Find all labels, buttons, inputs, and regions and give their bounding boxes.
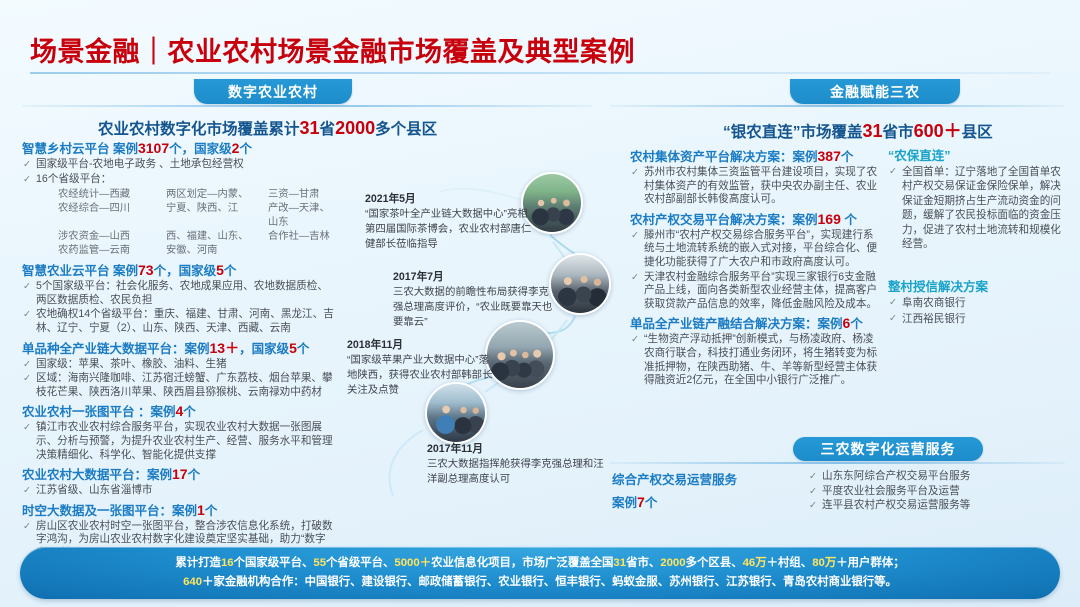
ops-item: 山东东阿综合产权交易平台服务 [808, 470, 1070, 484]
banner-l1-n7: 80万 [812, 557, 836, 569]
divider-left-section [22, 105, 592, 107]
block-title-num: 73 [138, 262, 154, 278]
banner-l1-h: ＋用户群体； [836, 557, 904, 569]
tick-list: 5个国家级平台：社会化服务、农地成果应用、农地数据质检、两区数据质检、农民负担农… [22, 280, 334, 335]
timeline-column: 2021年5月 “国家茶叶全产业链大数据中心”亮相第四届国际茶博会，农业农村部唐… [335, 130, 615, 550]
province-cell: 农经综合—四川 [58, 202, 162, 230]
ops-right-block: 山东东阿综合产权交易平台服务平度农业社会服务平台及运营连平县农村产权交易运营服务… [808, 470, 1070, 514]
tick-item: 农地确权14个省级平台：重庆、福建、甘肃、河南、黑龙江、吉林、辽宁、宁夏（2）、… [22, 308, 334, 335]
photo-premier-visit [549, 253, 611, 315]
right-block: 农村产权交易平台解决方案：案例169 个滕州市“农村产权交易综合服务平台”，实现… [630, 211, 880, 312]
banner-l1-g: ＋村组、 [767, 557, 813, 569]
far-right-block: “农保直连”全国首单：辽宁落地了全国首单农村产权交易保证金保险保单，解决保证金短… [888, 148, 1070, 251]
ops-case-num: 7 [637, 494, 645, 510]
banner-l1-c: 个省级平台、 [326, 557, 394, 569]
block-title-pre: 农业农村大数据平台：案例 [22, 468, 172, 482]
block-title-num: 5 [289, 340, 297, 356]
block-title-num: 5 [216, 262, 224, 278]
tab-finance-empowerment[interactable]: 金融赋能三农 [790, 79, 960, 104]
block-title-post: 个 [224, 264, 237, 278]
summary-banner: 累计打造16个国家级平台、55个省级平台、5000＋农业信息化项目，市场广泛覆盖… [20, 547, 1060, 599]
block-title: “农保直连” [888, 148, 1070, 164]
left-subheader-pre: 农业农村数字化市场覆盖累计 [98, 121, 300, 138]
tick-list: 镇江市农业农村综合服务平台，实现农业农村大数据一张图展示、分析与预警，为提升农业… [22, 421, 334, 462]
tick-item: 滕州市“农村产权交易综合服务平台”，实现建行系统与土地流转系统的嵌入式对接，平台… [630, 229, 880, 270]
tick-item: 苏州市农村集体三资监管平台建设项目，实现了农村集体资产的有效监管，获中央农办副主… [630, 166, 880, 207]
banner-l1-n3: 5000＋ [394, 557, 431, 569]
far-right-block: 整村授信解决方案阜南农商银行江西裕民银行 [888, 279, 1070, 326]
banner-l1-b: 个国家级平台、 [234, 557, 314, 569]
timeline-text-2: “国家级苹果产业大数据中心”落地陕西，获得农业农村部韩部长关注及点赞 [347, 353, 497, 398]
ops-case-post: 个 [645, 496, 658, 510]
block-title-pre: 时空大数据及一张图平台：案例 [22, 504, 197, 518]
block-title: 智慧农业云平台 案例73个，国家级5个 [22, 262, 334, 279]
timeline-date-3: 2017年11月 [427, 442, 612, 457]
banner-l1-a: 累计打造 [175, 557, 221, 569]
ops-left-block: 综合产权交易运营服务 案例7个 [612, 470, 787, 515]
banner-l2-n1: 640 [183, 576, 202, 588]
block-title-pre: 农村产权交易平台解决方案：案例 [630, 213, 818, 227]
timeline-date-2: 2018年11月 [347, 338, 497, 353]
block-title-num: 1 [197, 502, 205, 518]
ops-left-title: 综合产权交易运营服务 [612, 470, 787, 491]
timeline-item-2: 2018年11月 “国家级苹果产业大数据中心”落地陕西，获得农业农村部韩部长关注… [347, 338, 497, 398]
block-title: 整村授信解决方案 [888, 279, 1070, 295]
left-content-column: 智慧乡村云平台 案例3107个，国家级2个国家级平台-农地电子政务 、土地承包经… [22, 140, 334, 565]
tick-list: 江苏省级、山东省淄博市 [22, 484, 334, 498]
summary-banner-line1: 累计打造16个国家级平台、55个省级平台、5000＋农业信息化项目，市场广泛覆盖… [175, 554, 904, 573]
ops-item: 连平县农村产权交易运营服务等 [808, 499, 1070, 513]
ops-case-pre: 案例 [612, 496, 637, 510]
page-title: 场景金融｜农业农村场景金融市场覆盖及典型案例 [30, 30, 635, 69]
divider-right-section [610, 105, 1065, 107]
tab-digital-operations[interactable]: 三农数字化运营服务 [793, 437, 983, 461]
tick-item: “生物资产浮动抵押”创新模式，与杨凌政府、杨凌农商行联合，科技打通业务闭环，将生… [630, 333, 880, 387]
left-block: 农业农村一张图平台 ：案例4个镇江市农业农村综合服务平台，实现农业农村大数据一张… [22, 403, 334, 462]
block-title: 农业农村大数据平台：案例17个 [22, 466, 334, 483]
title-divider [30, 72, 1050, 74]
tick-item: 国家级：苹果、茶叶、橡胶、油料、生猪 [22, 358, 334, 372]
far-right-content-column: “农保直连”全国首单：辽宁落地了全国首单农村产权交易保证金保险保单，解决保证金短… [888, 148, 1070, 330]
tick-item: 江苏省级、山东省淄博市 [22, 484, 334, 498]
block-title: 智慧乡村云平台 案例3107个，国家级2个 [22, 140, 334, 157]
block-title-post: 个 [239, 142, 252, 156]
block-title-post: 个 [205, 504, 218, 518]
timeline-item-0: 2021年5月 “国家茶叶全产业链大数据中心”亮相第四届国际茶博会，农业农村部唐… [365, 192, 535, 252]
tick-item: 16个省级平台： [22, 173, 334, 187]
tick-list: 滕州市“农村产权交易综合服务平台”，实现建行系统与土地流转系统的嵌入式对接，平台… [630, 229, 880, 312]
block-title: 时空大数据及一张图平台：案例1个 [22, 502, 334, 519]
right-subheader-num2: 600＋ [914, 121, 962, 141]
right-subheader: “银农直连”市场覆盖31省市600＋县区 [723, 117, 993, 143]
timeline-date-1: 2017年7月 [393, 270, 558, 285]
block-title-post: 个 [841, 150, 854, 164]
banner-l1-n1: 16 [221, 557, 234, 569]
block-title-post: 个 [297, 342, 310, 356]
block-title-pre: 智慧乡村云平台 案例 [22, 142, 138, 156]
block-title: 农村产权交易平台解决方案：案例169 个 [630, 211, 880, 228]
block-title-pre: 农村集体资产平台解决方案：案例 [630, 150, 818, 164]
province-cell: 安徽、河南 [166, 244, 264, 258]
right-block: 农村集体资产平台解决方案：案例387个苏州市农村集体三资监管平台建设项目，实现了… [630, 148, 880, 207]
block-title-post: 个 [183, 405, 196, 419]
tick-item: 阜南农商银行 [888, 296, 1070, 310]
tick-list: 阜南农商银行江西裕民银行 [888, 296, 1070, 326]
banner-l2-a: ＋家金融机构合作：中国银行、建设银行、邮政储蓄银行、农业银行、恒丰银行、蚂蚁金服… [202, 576, 897, 588]
block-title-num: 3107 [138, 140, 169, 156]
tick-list: 苏州市农村集体三资监管平台建设项目，实现了农村集体资产的有效监管，获中央农办副主… [630, 166, 880, 207]
left-subheader-num1: 31 [300, 118, 320, 138]
banner-l1-d: 农业信息化项目，市场广泛覆盖全国 [431, 557, 613, 569]
province-grid: 农经统计—西藏两区划定—内蒙、三资—甘肃农经综合—四川宁夏、陕西、江产改—天津、… [58, 188, 334, 258]
province-cell: 三资—甘肃 [268, 188, 334, 202]
tick-item: 全国首单：辽宁落地了全国首单农村产权交易保证金保险保单，解决保证金短期挤占生产流… [888, 165, 1070, 251]
block-title-pre: 单品全产业链产融结合解决方案：案例 [630, 317, 843, 331]
province-cell: 合作社—吉林 [268, 230, 334, 244]
tick-item: 国家级平台-农地电子政务 、土地承包经营权 [22, 158, 334, 172]
block-title-mid: 个，国家级 [169, 142, 232, 156]
left-block: 智慧乡村云平台 案例3107个，国家级2个国家级平台-农地电子政务 、土地承包经… [22, 140, 334, 258]
banner-l1-n5: 2000 [660, 557, 685, 569]
block-title-mid: 个，国家级 [154, 264, 217, 278]
banner-l1-n2: 55 [313, 557, 326, 569]
block-title: 单品种全产业链大数据平台：案例13＋，国家级5个 [22, 340, 334, 357]
banner-l1-n4: 31 [613, 557, 626, 569]
page-title-wrap: 场景金融｜农业农村场景金融市场覆盖及典型案例 [30, 30, 635, 69]
timeline-text-3: 三农大数据指挥舱获得李克强总理和汪洋副总理高度认可 [427, 457, 612, 487]
block-title-num: 387 [818, 148, 841, 164]
ops-left-case: 案例7个 [612, 492, 787, 514]
timeline-text-1: 三农大数据的前瞻性布局获得李克强总理高度评价，“农业既要靠天也要靠云” [393, 285, 558, 330]
province-cell: 西、福建、山东、 [166, 230, 264, 244]
block-title: 单品全产业链产融结合解决方案：案例6个 [630, 315, 880, 332]
banner-l1-e: 省市、 [626, 557, 660, 569]
province-cell: 两区划定—内蒙、 [166, 188, 264, 202]
right-content-column: 农村集体资产平台解决方案：案例387个苏州市农村集体三资监管平台建设项目，实现了… [630, 148, 880, 392]
timeline-text-0: “国家茶叶全产业链大数据中心”亮相第四届国际茶博会，农业农村部唐仁健部长莅临指导 [365, 207, 535, 252]
left-block: 单品种全产业链大数据平台：案例13＋，国家级5个国家级：苹果、茶叶、橡胶、油料、… [22, 340, 334, 400]
tick-list: 全国首单：辽宁落地了全国首单农村产权交易保证金保险保单，解决保证金短期挤占生产流… [888, 165, 1070, 251]
block-title-post: 个 [188, 468, 201, 482]
left-block: 农业农村大数据平台：案例17个江苏省级、山东省淄博市 [22, 466, 334, 498]
timeline-item-1: 2017年7月 三农大数据的前瞻性布局获得李克强总理高度评价，“农业既要靠天也要… [393, 270, 558, 330]
tick-item: 江西裕民银行 [888, 312, 1070, 326]
block-title-post: 个 [841, 213, 857, 227]
tick-item: 5个国家级平台：社会化服务、农地成果应用、农地数据质检、两区数据质检、农民负担 [22, 280, 334, 307]
tick-list: “生物资产浮动抵押”创新模式，与杨凌政府、杨凌农商行联合，科技打通业务闭环，将生… [630, 333, 880, 387]
block-title-pre: 智慧农业云平台 案例 [22, 264, 138, 278]
ops-item: 平度农业社会服务平台及运营 [808, 485, 1070, 499]
right-subheader-num1: 31 [863, 121, 883, 141]
right-subheader-mid: 省市 [883, 124, 914, 141]
banner-l1-n6: 46万 [743, 557, 767, 569]
province-cell: 宁夏、陕西、江 [166, 202, 264, 230]
block-title-num: 169 [818, 211, 841, 227]
province-cell: 产改—天津、山东 [268, 202, 334, 230]
tick-list: 国家级平台-农地电子政务 、土地承包经营权16个省级平台： [22, 158, 334, 186]
block-title: 农业农村一张图平台 ：案例4个 [22, 403, 334, 420]
summary-banner-line2: 640＋家金融机构合作：中国银行、建设银行、邮政储蓄银行、农业银行、恒丰银行、蚂… [183, 573, 897, 592]
tab-digital-agriculture[interactable]: 数字农业农村 [194, 79, 352, 104]
right-block: 单品全产业链产融结合解决方案：案例6个“生物资产浮动抵押”创新模式，与杨凌政府、… [630, 315, 880, 387]
tick-list: 国家级：苹果、茶叶、橡胶、油料、生猪区域：海南兴隆咖啡、江苏宿迁螃蟹、广东荔枝、… [22, 358, 334, 400]
tick-item: 区域：海南兴隆咖啡、江苏宿迁螃蟹、广东荔枝、烟台苹果、攀枝花芒果、陕西洛川苹果、… [22, 372, 334, 399]
divider-ops-section [610, 462, 1065, 464]
right-subheader-pre: “银农直连”市场覆盖 [723, 124, 863, 141]
ops-item-list: 山东东阿综合产权交易平台服务平度农业社会服务平台及运营连平县农村产权交易运营服务… [808, 470, 1070, 513]
tick-item: 天津农村金融综合服务平台”实现三家银行6支金融产品上线，面向各类新型农业经营主体… [630, 271, 880, 312]
block-title-num: 17 [172, 466, 188, 482]
province-cell [268, 244, 334, 258]
block-title-num: 13＋ [210, 340, 240, 356]
province-cell: 涉农资金—山西 [58, 230, 162, 244]
left-subheader-mid: 省 [320, 121, 336, 138]
timeline-date-0: 2021年5月 [365, 192, 535, 207]
block-title-pre: 农业农村一张图平台 ：案例 [22, 405, 175, 419]
banner-l1-f: 多个区县、 [686, 557, 743, 569]
block-title: 农村集体资产平台解决方案：案例387个 [630, 148, 880, 165]
block-title-mid: ，国家级 [239, 342, 289, 356]
province-cell: 农经统计—西藏 [58, 188, 162, 202]
tick-item: 镇江市农业农村综合服务平台，实现农业农村大数据一张图展示、分析与预警，为提升农业… [22, 421, 334, 462]
slide-root: 场景金融｜农业农村场景金融市场覆盖及典型案例 数字农业农村 金融赋能三农 三农数… [0, 0, 1080, 607]
timeline-item-3: 2017年11月 三农大数据指挥舱获得李克强总理和汪洋副总理高度认可 [427, 442, 612, 487]
right-subheader-post: 县区 [962, 124, 993, 141]
province-cell: 农药监管—云南 [58, 244, 162, 258]
block-title-post: 个 [850, 317, 863, 331]
block-title-pre: 单品种全产业链大数据平台：案例 [22, 342, 210, 356]
left-block: 智慧农业云平台 案例73个，国家级5个5个国家级平台：社会化服务、农地成果应用、… [22, 262, 334, 335]
